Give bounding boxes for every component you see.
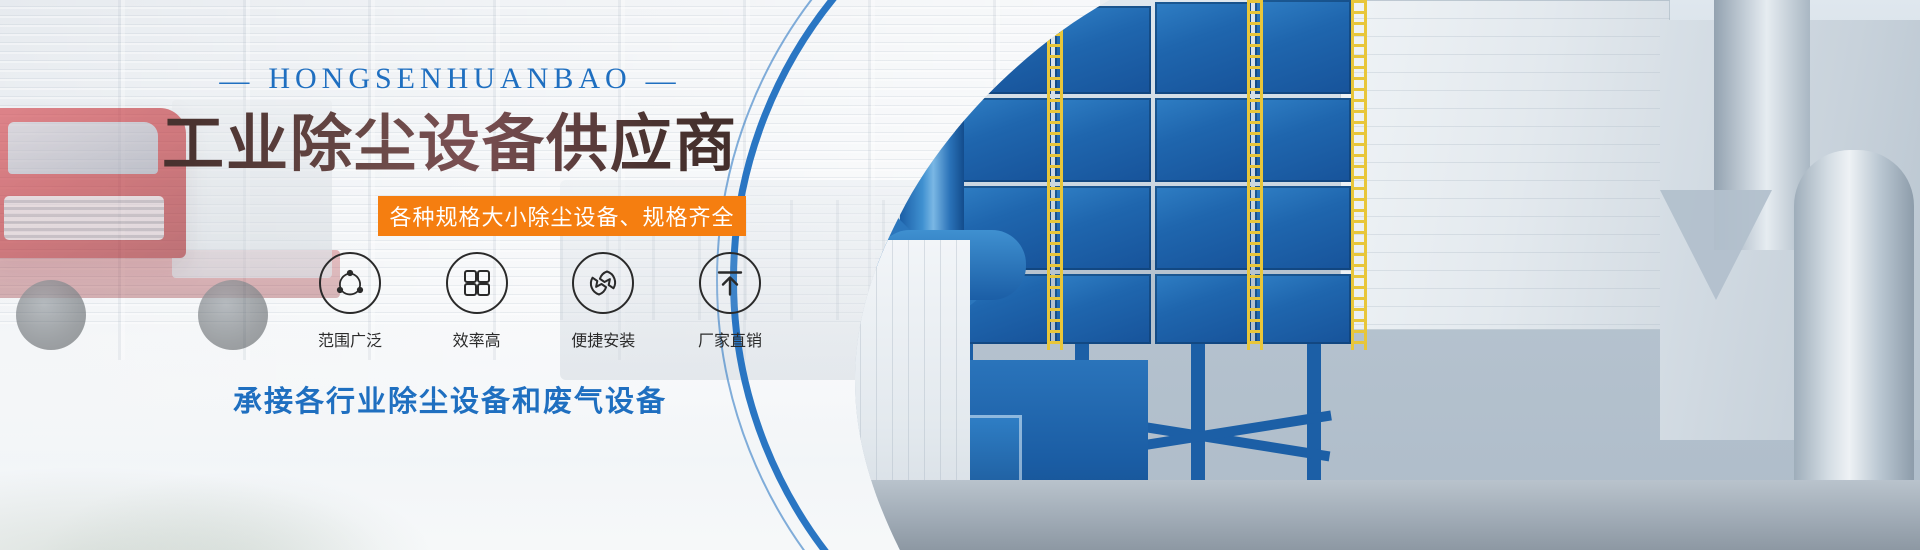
feature-label: 便捷安装	[553, 327, 653, 351]
wrench-icon	[572, 252, 634, 314]
orange-subtitle-bar: 各种规格大小除尘设备、规格齐全	[378, 196, 746, 236]
feature-item-high-efficiency[interactable]: 效率高	[427, 252, 527, 351]
hero-banner: —HONGSENHUANBAO— 工业除尘设备供应商 各种规格大小除尘设备、规格…	[0, 0, 1920, 550]
baghouse-module	[1055, 98, 1151, 182]
banner-tagline: 承接各行业除尘设备和废气设备	[0, 378, 900, 420]
baghouse-module	[1255, 186, 1351, 270]
feature-label: 厂家直销	[680, 327, 780, 351]
eyebrow-dash-right: —	[646, 64, 681, 98]
baghouse-module	[1255, 274, 1351, 344]
baghouse-module	[1255, 98, 1351, 182]
arrow-up-bar-icon	[699, 252, 761, 314]
grid-four-squares-icon	[446, 252, 508, 314]
feature-label: 效率高	[427, 327, 527, 351]
feature-label: 范围广泛	[300, 327, 400, 351]
eyebrow-text: HONGSENHUANBAO	[268, 62, 631, 95]
brand-eyebrow: —HONGSENHUANBAO—	[0, 62, 900, 98]
page-title: 工业除尘设备供应商	[0, 108, 900, 179]
factory-ground	[780, 480, 1920, 550]
banner-content: —HONGSENHUANBAO— 工业除尘设备供应商 各种规格大小除尘设备、规格…	[0, 0, 900, 550]
baghouse-module	[1155, 186, 1251, 270]
baghouse-module	[1055, 274, 1151, 344]
eyebrow-dash-left: —	[219, 64, 254, 98]
feature-item-factory-direct[interactable]: 厂家直销	[680, 252, 780, 351]
yellow-ladder	[1351, 0, 1367, 350]
baghouse-module	[1155, 274, 1251, 344]
baghouse-module	[1255, 0, 1351, 94]
feature-item-wide-range[interactable]: 范围广泛	[300, 252, 400, 351]
feature-item-easy-install[interactable]: 便捷安装	[553, 252, 653, 351]
network-nodes-icon	[319, 252, 381, 314]
support-column	[1191, 344, 1205, 494]
yellow-ladder	[1047, 0, 1063, 350]
feature-list: 范围广泛 效率高	[300, 252, 780, 351]
orange-subtitle-text: 各种规格大小除尘设备、规格齐全	[389, 200, 734, 232]
yellow-ladder	[1247, 0, 1263, 350]
factory-building-siding	[1340, 0, 1670, 330]
baghouse-module	[1155, 98, 1251, 182]
baghouse-module	[1055, 186, 1151, 270]
baghouse-module	[1155, 2, 1251, 94]
hopper-cone	[1660, 190, 1772, 300]
